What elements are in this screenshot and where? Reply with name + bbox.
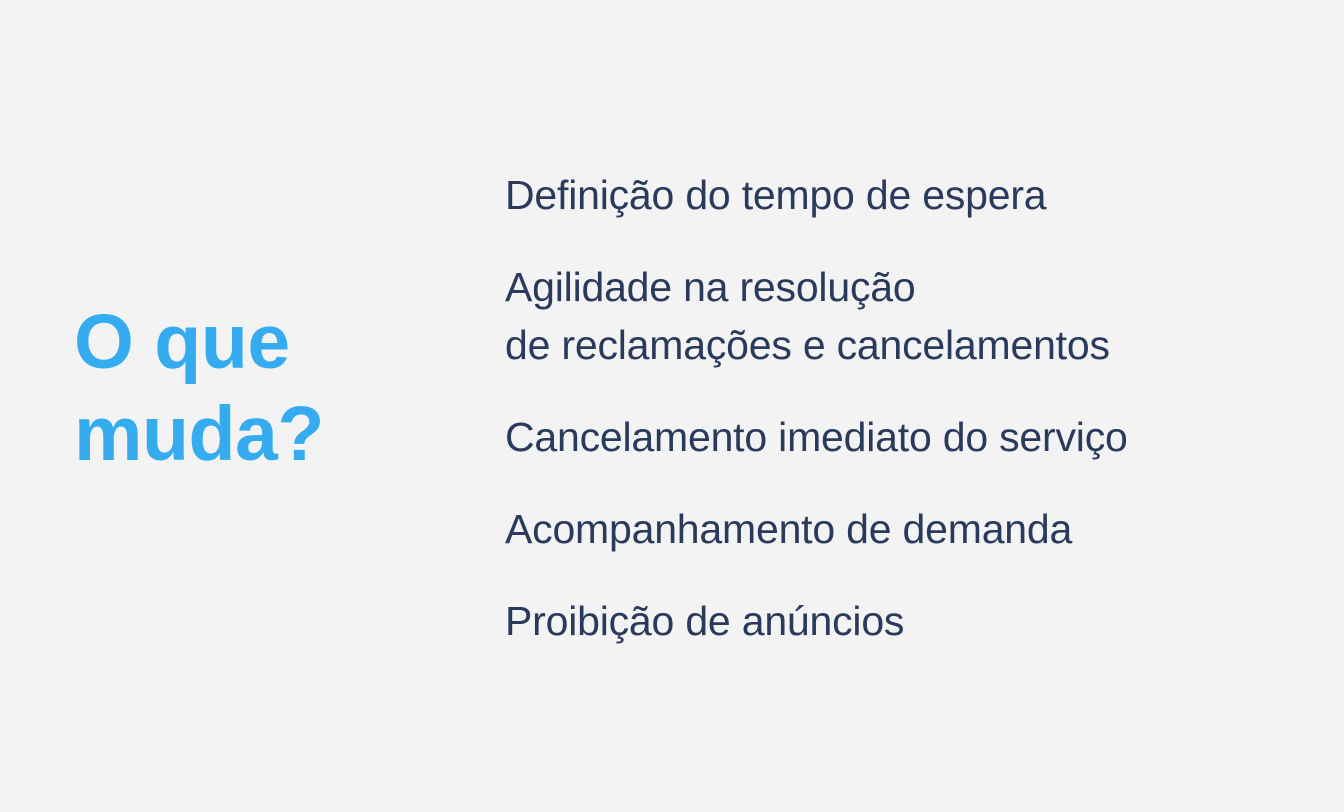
list-item: Agilidade na resolução de reclamações e … bbox=[505, 258, 1305, 374]
heading-block: O que muda? bbox=[74, 296, 474, 480]
changes-list: Definição do tempo de espera Agilidade n… bbox=[505, 166, 1305, 650]
list-item: Cancelamento imediato do serviço bbox=[505, 408, 1305, 466]
list-item: Definição do tempo de espera bbox=[505, 166, 1305, 224]
list-item: Acompanhamento de demanda bbox=[505, 500, 1305, 558]
page-title: O que muda? bbox=[74, 296, 474, 480]
slide-canvas: O que muda? Definição do tempo de espera… bbox=[0, 0, 1344, 812]
list-item: Proibição de anúncios bbox=[505, 592, 1305, 650]
